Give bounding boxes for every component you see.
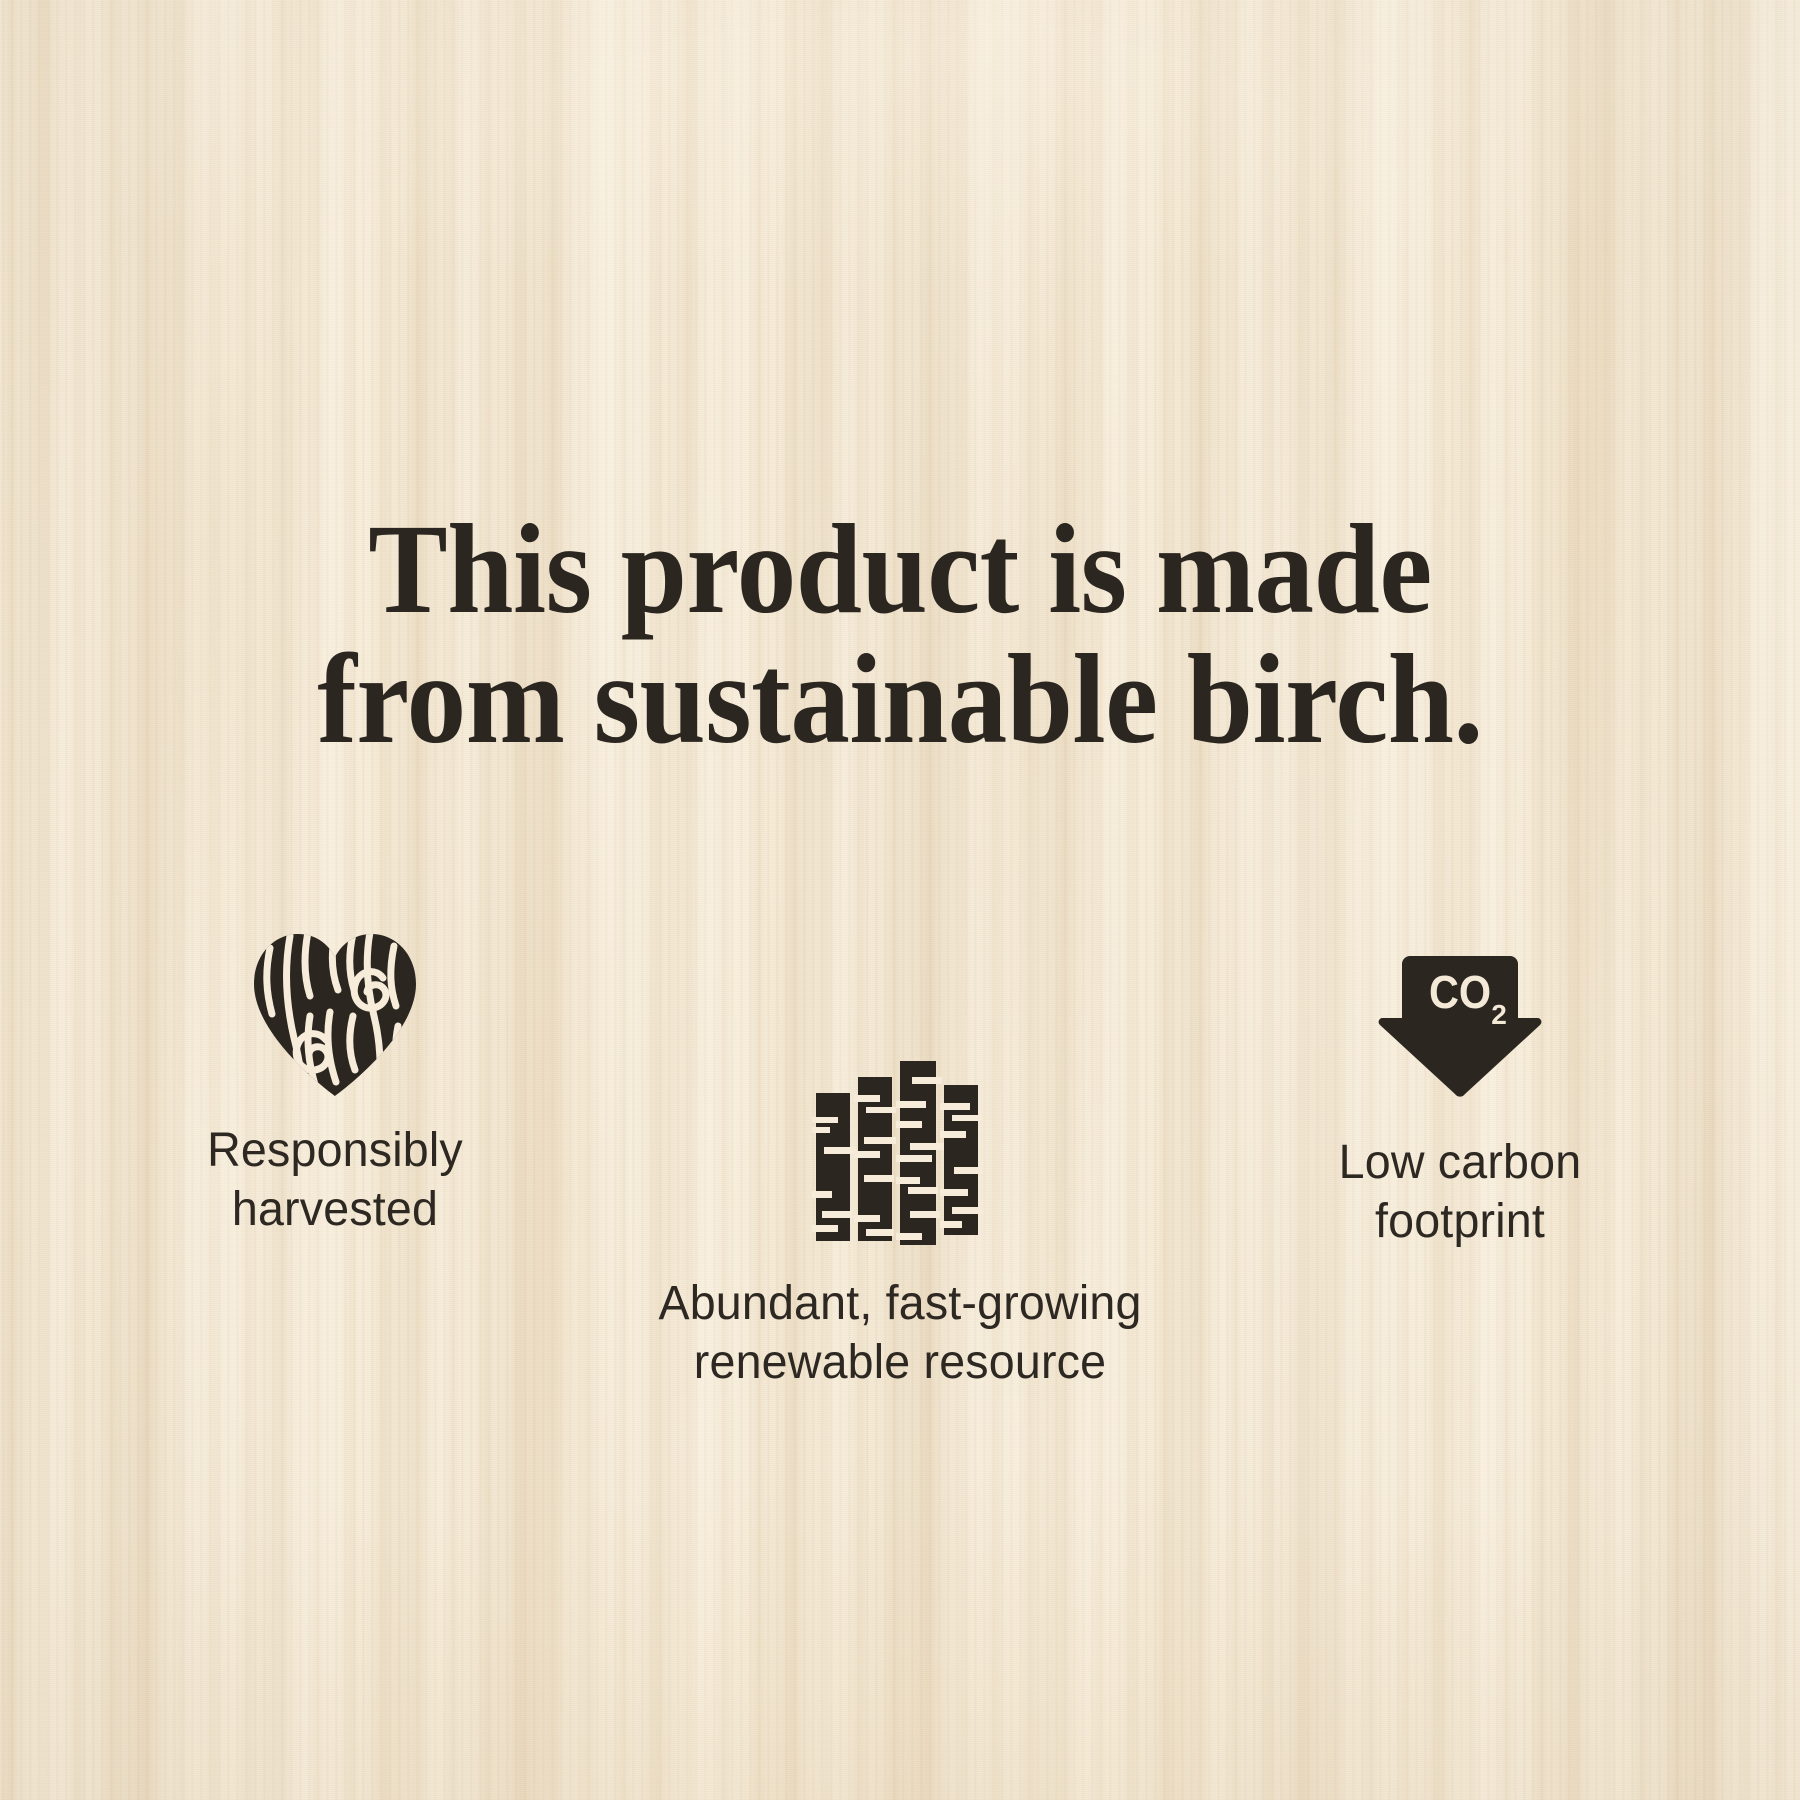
birch-trees-icon-wrap — [620, 1055, 1180, 1245]
caption-line-2: harvested — [78, 1181, 592, 1240]
headline-line-1: This product is made — [63, 504, 1737, 635]
caption-line-1: Abundant, fast-growing — [628, 1275, 1171, 1334]
caption-line-2: footprint — [1198, 1193, 1722, 1252]
sustainable-birch-poster: This product is made from sustainable bi… — [0, 0, 1800, 1800]
headline-line-2: from sustainable birch. — [63, 634, 1737, 765]
co2-down-arrow-icon: CO 2 — [1376, 950, 1544, 1098]
wood-grain-heart-icon-wrap — [70, 918, 600, 1098]
feature-caption-low-carbon-footprint: Low carbon footprint — [1198, 1134, 1722, 1251]
page-title: This product is made from sustainable bi… — [63, 504, 1737, 765]
co2-label: CO — [1429, 967, 1491, 1019]
co2-subscript: 2 — [1491, 999, 1507, 1030]
feature-caption-renewable-resource: Abundant, fast-growing renewable resourc… — [628, 1275, 1171, 1392]
feature-low-carbon-footprint: CO 2 Low carbon footprint — [1190, 938, 1730, 1251]
feature-responsibly-harvested: Responsibly harvested — [70, 918, 600, 1239]
caption-line-1: Responsibly — [78, 1122, 592, 1181]
feature-renewable-resource: Abundant, fast-growing renewable resourc… — [620, 1055, 1180, 1392]
feature-caption-responsibly-harvested: Responsibly harvested — [78, 1122, 592, 1239]
co2-down-arrow-icon-wrap: CO 2 — [1190, 938, 1730, 1098]
birch-trees-icon — [812, 1059, 988, 1245]
caption-line-2: renewable resource — [628, 1334, 1171, 1393]
caption-line-1: Low carbon — [1198, 1134, 1722, 1193]
wood-grain-heart-icon — [248, 930, 422, 1098]
